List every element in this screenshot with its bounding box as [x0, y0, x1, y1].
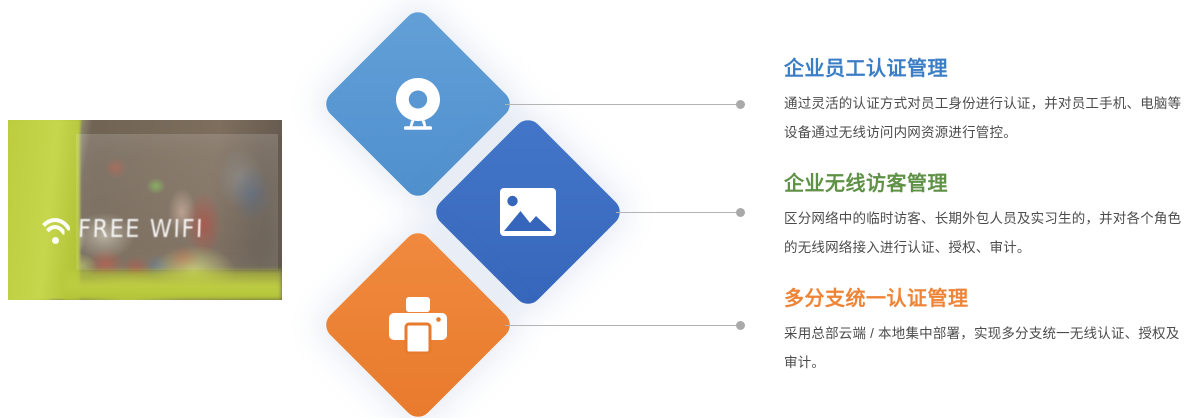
feature-item-2: 企业无线访客管理 区分网络中的临时访客、长期外包人员及实习生的，并对各个角色的无…: [784, 173, 1190, 262]
feature-description-1: 通过灵活的认证方式对员工身份进行认证，并对员工手机、电脑等设备通过无线访问内网资…: [784, 89, 1190, 147]
connector-line-2: [616, 206, 745, 220]
wifi-dot: [52, 237, 59, 244]
feature-description-2: 区分网络中的临时访客、长期外包人员及实习生的，并对各个角色的无线网络接入进行认证…: [784, 204, 1190, 262]
connector-line-3-stroke: [505, 325, 745, 326]
free-wifi-photo: FREE WIFI: [8, 120, 282, 300]
feature-showcase-section: FREE WIFI: [0, 0, 1200, 418]
photo-green-floor: [64, 270, 282, 300]
photo-glass-pane: [76, 134, 278, 270]
feature-title-2: 企业无线访客管理: [784, 173, 1190, 195]
feature-icon-tile-printer[interactable]: [320, 227, 515, 418]
connector-line-1: [505, 98, 745, 112]
printer-icon: [349, 256, 487, 394]
feature-title-1: 企业员工认证管理: [784, 58, 1190, 80]
wifi-icon: [38, 218, 72, 246]
connector-line-2-stroke: [616, 212, 745, 213]
feature-item-1: 企业员工认证管理 通过灵活的认证方式对员工身份进行认证，并对员工手机、电脑等设备…: [784, 58, 1190, 147]
connector-line-1-stroke: [505, 104, 745, 105]
feature-description-3: 采用总部云端 / 本地集中部署，实现多分支统一无线认证、授权及审计。: [784, 319, 1190, 377]
connector-dot-2: [736, 208, 745, 217]
connector-dot-3: [736, 321, 745, 330]
connector-line-3: [505, 319, 745, 333]
feature-title-3: 多分支统一认证管理: [784, 288, 1190, 310]
photo-sticker-text: FREE WIFI: [78, 216, 205, 241]
photo-background: FREE WIFI: [8, 120, 282, 300]
feature-item-3: 多分支统一认证管理 采用总部云端 / 本地集中部署，实现多分支统一无线认证、授权…: [784, 288, 1190, 377]
connector-dot-1: [736, 100, 745, 109]
